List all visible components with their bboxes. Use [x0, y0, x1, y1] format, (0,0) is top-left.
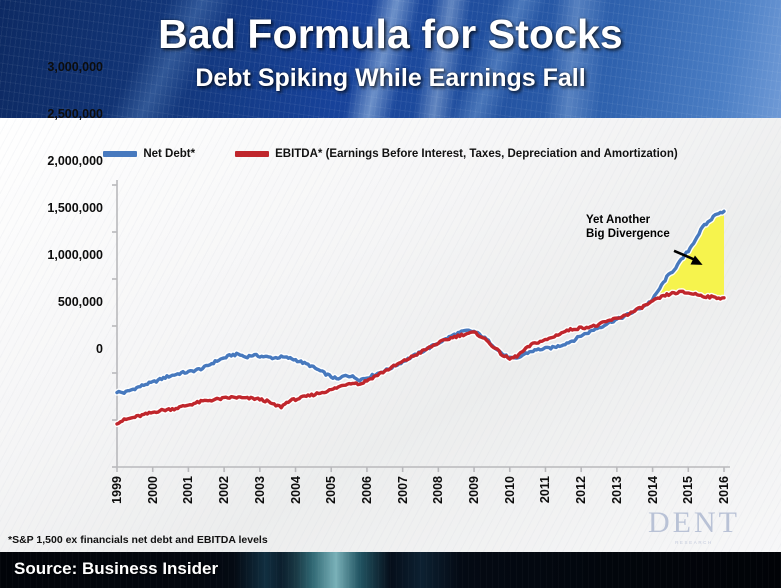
- x-axis-tick-label: 2014: [646, 476, 660, 504]
- page-title: Bad Formula for Stocks: [0, 0, 781, 55]
- x-axis-tick-label: 1999: [110, 476, 124, 504]
- annotation-line-1: Yet Another: [586, 213, 670, 227]
- legend-label-ebitda: EBITDA* (Earnings Before Interest, Taxes…: [275, 148, 678, 160]
- x-axis-tick-label: 2006: [360, 476, 374, 504]
- legend-swatch-net-debt: [103, 151, 137, 157]
- x-axis-tick-label: 2007: [396, 476, 410, 504]
- x-axis-tick-label: 2010: [503, 476, 517, 504]
- slide-root: Bad Formula for Stocks Debt Spiking Whil…: [0, 0, 781, 588]
- x-axis-tick-label: 2002: [217, 476, 231, 504]
- header-banner: Bad Formula for Stocks Debt Spiking Whil…: [0, 0, 781, 118]
- chart-footnote: *S&P 1,500 ex financials net debt and EB…: [8, 534, 268, 546]
- dent-logo: DENT RESEARCH: [648, 508, 740, 545]
- x-axis-tick-label: 2011: [538, 476, 552, 503]
- x-axis-tick-label: 2015: [681, 476, 695, 504]
- legend-item-net-debt: Net Debt*: [103, 148, 195, 160]
- x-axis-tick-label: 2003: [253, 476, 267, 504]
- x-axis-tick-label: 2005: [324, 476, 338, 504]
- dent-logo-word: DENT: [648, 508, 740, 538]
- x-axis-tick-label: 2001: [181, 476, 195, 504]
- x-axis-tick-label: 2008: [431, 476, 445, 504]
- legend-item-ebitda: EBITDA* (Earnings Before Interest, Taxes…: [235, 148, 678, 160]
- divergence-annotation: Yet Another Big Divergence: [586, 213, 670, 242]
- source-bar: Source: Business Insider: [0, 552, 781, 588]
- dent-logo-subtitle: RESEARCH: [648, 540, 740, 545]
- legend-swatch-ebitda: [235, 151, 269, 157]
- x-axis-labels: 1999200020012002200320042005200620072008…: [0, 118, 781, 552]
- x-axis-tick-label: 2009: [467, 476, 481, 504]
- x-axis-tick-label: 2012: [574, 476, 588, 504]
- x-axis-tick-label: 2013: [610, 476, 624, 504]
- x-axis-tick-label: 2004: [289, 476, 303, 504]
- legend-label-net-debt: Net Debt*: [143, 148, 195, 160]
- page-subtitle: Debt Spiking While Earnings Fall: [0, 55, 781, 91]
- x-axis-tick-label: 2016: [717, 476, 731, 504]
- source-label: Source: Business Insider: [0, 552, 781, 579]
- x-axis-tick-label: 2000: [146, 476, 160, 504]
- chart-legend: Net Debt* EBITDA* (Earnings Before Inter…: [0, 144, 781, 164]
- annotation-line-2: Big Divergence: [586, 227, 670, 241]
